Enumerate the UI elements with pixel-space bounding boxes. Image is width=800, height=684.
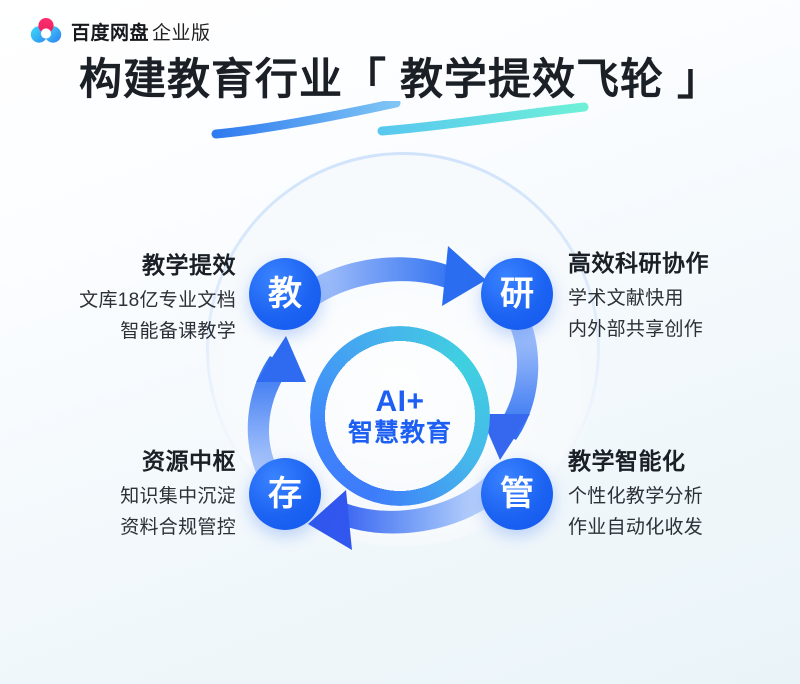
node-badge-guan[interactable]: 管 [481,458,553,530]
feature-heading-bottom-right: 教学智能化 [568,448,800,476]
feature-line2-bottom-left: 资料合规管控 [0,514,236,542]
center-line-ai: AI+ [375,387,424,417]
brand-name: 百度网盘企业版 [71,18,211,45]
feature-block-top-left: 教学提效 文库18亿专业文档 智能备课教学 [0,252,236,350]
poster-canvas: 百度网盘企业版 构建教育行业「 教学提效飞轮 」 [0,0,800,684]
feature-line2-top-right: 内外部共享创作 [568,316,800,344]
node-badge-jiao[interactable]: 教 [249,258,321,330]
center-label: AI+ 智慧教育 [310,326,490,506]
node-badge-cun[interactable]: 存 [249,458,321,530]
feature-line1-bottom-right: 个性化教学分析 [568,483,800,511]
page-title: 构建教育行业「 教学提效飞轮 」 [79,56,721,105]
feature-line2-bottom-right: 作业自动化收发 [568,514,800,542]
brand-name-text: 百度网盘 [71,23,149,44]
brand-edition-text: 企业版 [152,23,211,44]
feature-block-bottom-right: 教学智能化 个性化教学分析 作业自动化收发 [568,448,800,546]
page-title-wrap: 构建教育行业「 教学提效飞轮 」 [0,56,800,105]
feature-line1-top-left: 文库18亿专业文档 [0,287,236,315]
gradient-swoosh-underline [210,101,590,141]
feature-block-bottom-left: 资源中枢 知识集中沉淀 资料合规管控 [0,448,236,546]
feature-line1-top-right: 学术文献快用 [568,285,800,313]
feature-heading-top-left: 教学提效 [0,252,236,280]
brand-logo: 百度网盘企业版 [30,17,211,45]
feature-line2-top-left: 智能备课教学 [0,318,236,346]
feature-block-top-right: 高效科研协作 学术文献快用 内外部共享创作 [568,250,800,348]
center-line-sub: 智慧教育 [348,421,452,446]
feature-heading-top-right: 高效科研协作 [568,250,800,278]
feature-heading-bottom-left: 资源中枢 [0,448,236,476]
three-circles-logo-icon [30,17,62,45]
node-badge-yan[interactable]: 研 [481,258,553,330]
feature-line1-bottom-left: 知识集中沉淀 [0,483,236,511]
